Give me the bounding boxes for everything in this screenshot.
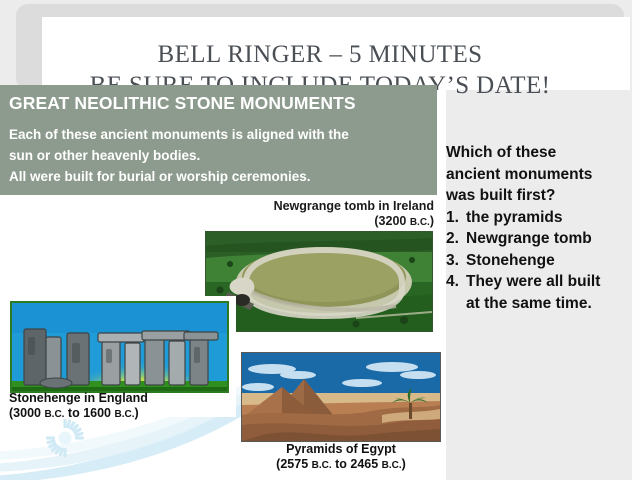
pyramids-image bbox=[241, 352, 441, 442]
pyramids-caption-date: (2575 B.C. to 2465 B.C.) bbox=[241, 457, 441, 473]
answer-option-2-number: 2. bbox=[446, 228, 466, 250]
pyramids-date-era-2: B.C. bbox=[382, 460, 402, 471]
slide: BELL RINGER – 5 MINUTES BE SURE TO INCLU… bbox=[0, 0, 640, 480]
answer-option-4-number: 4. bbox=[446, 271, 466, 293]
pyramids-caption-title: Pyramids of Egypt bbox=[241, 442, 441, 457]
question-block: Which of these ancient monuments was bui… bbox=[446, 142, 636, 314]
newgrange-date-era: B.C. bbox=[410, 217, 430, 228]
stonehenge-caption: Stonehenge in England (3000 B.C. to 1600… bbox=[9, 391, 235, 422]
banner-body: Each of these ancient monuments is align… bbox=[9, 124, 429, 187]
newgrange-caption-date: (3200 B.C.) bbox=[218, 214, 434, 230]
question-prompt: Which of these ancient monuments was bui… bbox=[446, 142, 636, 207]
newgrange-date-open: (3200 bbox=[374, 214, 409, 228]
monuments-banner: GREAT NEOLITHIC STONE MONUMENTS Each of … bbox=[0, 85, 437, 195]
answer-option-3-number: 3. bbox=[446, 250, 466, 272]
title-line-1: BELL RINGER – 5 MINUTES bbox=[158, 41, 483, 68]
answer-option-3[interactable]: 3. Stonehenge bbox=[446, 250, 636, 272]
answer-option-1[interactable]: 1. the pyramids bbox=[446, 207, 636, 229]
pyramids-date-close: ) bbox=[402, 457, 406, 471]
answer-option-2-label: Newgrange tomb bbox=[466, 228, 636, 250]
answer-option-2[interactable]: 2. Newgrange tomb bbox=[446, 228, 636, 250]
newgrange-date-close: ) bbox=[430, 214, 434, 228]
stonehenge-date-era-1: B.C. bbox=[44, 409, 64, 420]
newgrange-caption-title: Newgrange tomb in Ireland bbox=[218, 199, 434, 214]
answer-options-list: 1. the pyramids 2. Newgrange tomb 3. Sto… bbox=[446, 207, 636, 315]
newgrange-image bbox=[205, 231, 433, 332]
pyramids-date-era-1: B.C. bbox=[312, 460, 332, 471]
newgrange-caption: Newgrange tomb in Ireland (3200 B.C.) bbox=[218, 199, 434, 230]
answer-option-1-label: the pyramids bbox=[466, 207, 636, 229]
stonehenge-caption-title: Stonehenge in England bbox=[9, 391, 235, 406]
answer-option-3-label: Stonehenge bbox=[466, 250, 636, 272]
stonehenge-date-close: ) bbox=[134, 406, 138, 420]
pyramids-date-mid: to 2465 bbox=[332, 457, 382, 471]
stonehenge-date-mid: to 1600 bbox=[64, 406, 114, 420]
stonehenge-date-era-2: B.C. bbox=[114, 409, 134, 420]
answer-option-4-label: They were all built at the same time. bbox=[466, 271, 636, 314]
answer-option-1-number: 1. bbox=[446, 207, 466, 229]
banner-heading: GREAT NEOLITHIC STONE MONUMENTS bbox=[9, 93, 356, 114]
answer-option-4[interactable]: 4. They were all built at the same time. bbox=[446, 271, 636, 314]
stonehenge-date-open: (3000 bbox=[9, 406, 44, 420]
pyramids-caption: Pyramids of Egypt (2575 B.C. to 2465 B.C… bbox=[241, 442, 441, 473]
pyramids-date-open: (2575 bbox=[276, 457, 311, 471]
stonehenge-caption-date: (3000 B.C. to 1600 B.C.) bbox=[9, 406, 235, 422]
stonehenge-image bbox=[10, 301, 229, 393]
